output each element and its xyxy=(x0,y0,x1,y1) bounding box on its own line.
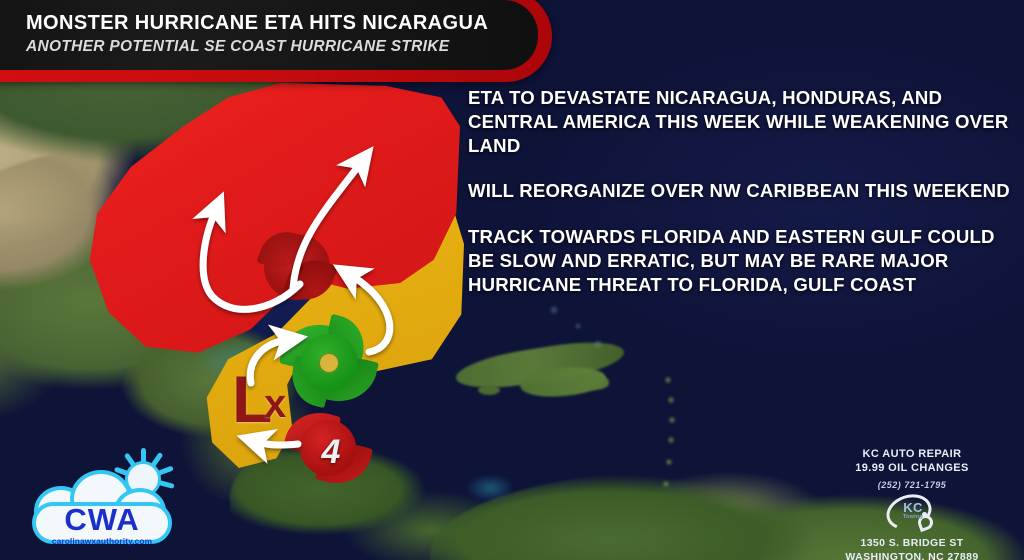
header-banner: MONSTER HURRICANE ETA HITS NICARAGUA ANO… xyxy=(0,0,566,76)
page-subtitle: ANOTHER POTENTIAL SE COAST HURRICANE STR… xyxy=(26,38,512,56)
hurricane-forecast-graphic: 4 L x MONS xyxy=(0,0,1024,560)
kc-towing-logo-icon: KC Towing xyxy=(884,495,940,533)
forecast-discussion: ETA TO DEVASTATE NICARAGUA, HONDURAS, AN… xyxy=(468,86,1024,297)
hurricane-symbol-over-land xyxy=(258,228,336,306)
landmass-lesser-antilles xyxy=(660,372,680,502)
sponsor-block[interactable]: KC AUTO REPAIR 19.99 OIL CHANGES (252) 7… xyxy=(806,448,1018,560)
hurricane-eye xyxy=(320,354,338,372)
forecast-bullet-2: WILL REORGANIZE OVER NW CARIBBEAN THIS W… xyxy=(468,179,1024,203)
landmass-puerto-rico xyxy=(575,375,609,390)
page-title: MONSTER HURRICANE ETA HITS NICARAGUA xyxy=(26,12,512,35)
sponsor-phone[interactable]: (252) 721-1795 xyxy=(806,480,1018,490)
cwa-logo[interactable]: CWA carolinawxauthority.com xyxy=(26,446,192,550)
sponsor-name: KC AUTO REPAIR xyxy=(806,448,1018,460)
forecast-bullet-1: ETA TO DEVASTATE NICARAGUA, HONDURAS, AN… xyxy=(468,86,1024,157)
hurricane-symbol-category: 4 xyxy=(288,408,368,488)
landmass-jamaica xyxy=(478,385,500,395)
hurricane-eye xyxy=(292,262,303,273)
sponsor-offer: 19.99 OIL CHANGES xyxy=(806,462,1018,474)
logo-url: carolinawxauthority.com xyxy=(26,536,178,546)
sponsor-address-city: WASHINGTON, NC 27889 xyxy=(806,551,1018,560)
landmass-bahamas xyxy=(540,300,630,360)
sponsor-logo-subtitle: Towing xyxy=(894,514,932,520)
low-pressure-cross: x xyxy=(264,384,286,424)
sponsor-logo-initials: KC xyxy=(896,500,930,515)
shallow-water-shelf-caribbean xyxy=(455,468,525,508)
category-number-label: 4 xyxy=(288,408,368,488)
logo-initials: CWA xyxy=(26,504,178,535)
banner-black-plate: MONSTER HURRICANE ETA HITS NICARAGUA ANO… xyxy=(0,0,538,70)
sponsor-address-street: 1350 S. BRIDGE ST xyxy=(806,537,1018,549)
forecast-bullet-3: TRACK TOWARDS FLORIDA AND EASTERN GULF C… xyxy=(468,225,1024,296)
low-pressure-marker: L x xyxy=(232,372,298,434)
